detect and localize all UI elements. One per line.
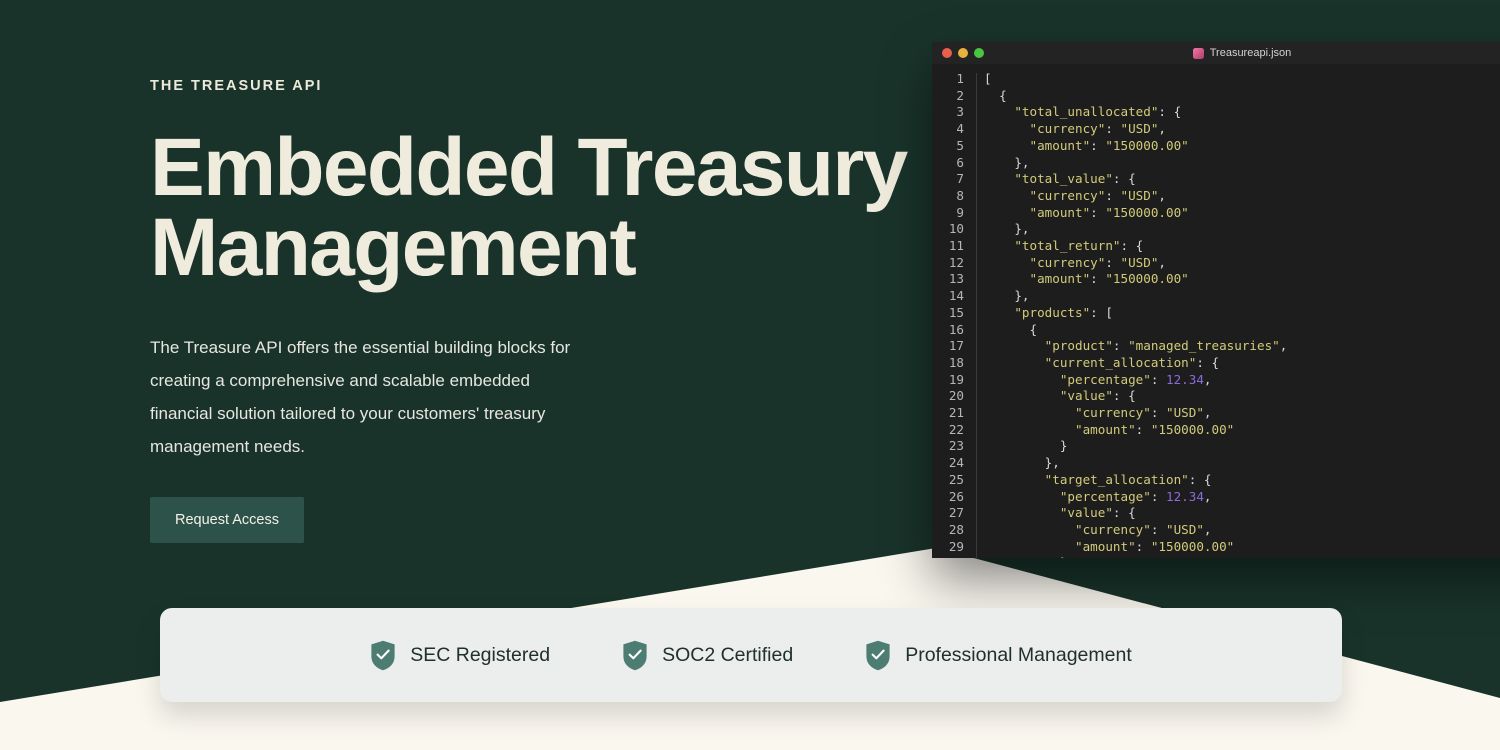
line-number: 18 — [932, 355, 964, 372]
code-line: "currency": "USD", — [984, 121, 1500, 138]
line-number: 13 — [932, 271, 964, 288]
code-line: "percentage": 12.34, — [984, 372, 1500, 389]
code-line: "value": { — [984, 388, 1500, 405]
code-line: }, — [984, 221, 1500, 238]
shield-check-icon — [622, 640, 648, 671]
trust-badge: Professional Management — [865, 640, 1132, 671]
line-number: 11 — [932, 238, 964, 255]
code-line: "amount": "150000.00" — [984, 205, 1500, 222]
code-line: "currency": "USD", — [984, 405, 1500, 422]
code-line: "amount": "150000.00" — [984, 138, 1500, 155]
line-number: 5 — [932, 138, 964, 155]
trust-badge-label: SEC Registered — [410, 644, 550, 667]
code-content[interactable]: [ { "total_unallocated": { "currency": "… — [972, 71, 1500, 558]
trust-badge-label: SOC2 Certified — [662, 644, 793, 667]
line-number: 27 — [932, 505, 964, 522]
code-line: "target_allocation": { — [984, 472, 1500, 489]
code-line: "currency": "USD", — [984, 522, 1500, 539]
headline-line-2: Management — [150, 202, 635, 293]
code-line: "amount": "150000.00" — [984, 422, 1500, 439]
line-number: 16 — [932, 322, 964, 339]
code-line: { — [984, 88, 1500, 105]
shield-check-icon — [370, 640, 396, 671]
line-number: 8 — [932, 188, 964, 205]
line-number: 10 — [932, 221, 964, 238]
code-window-title-group: Treasureapi.json — [932, 42, 1500, 64]
line-number: 24 — [932, 455, 964, 472]
code-line: "total_unallocated": { — [984, 104, 1500, 121]
line-number: 25 — [932, 472, 964, 489]
code-window-filename: Treasureapi.json — [1210, 47, 1292, 59]
line-number: 28 — [932, 522, 964, 539]
line-number: 23 — [932, 438, 964, 455]
line-number: 17 — [932, 338, 964, 355]
line-number: 3 — [932, 104, 964, 121]
hero-section: THE TREASURE API Embedded Treasury Manag… — [150, 78, 910, 543]
line-number: 29 — [932, 539, 964, 556]
line-number: 4 — [932, 121, 964, 138]
line-number: 9 — [932, 205, 964, 222]
line-number: 12 — [932, 255, 964, 272]
code-line: "value": { — [984, 505, 1500, 522]
line-number: 14 — [932, 288, 964, 305]
trust-badge: SEC Registered — [370, 640, 550, 671]
code-line: [ — [984, 71, 1500, 88]
line-number: 26 — [932, 489, 964, 506]
code-line: "total_value": { — [984, 171, 1500, 188]
line-number: 7 — [932, 171, 964, 188]
eyebrow-label: THE TREASURE API — [150, 78, 910, 94]
line-number-gutter: 1234567891011121314151617181920212223242… — [932, 71, 972, 558]
code-line: "percentage": 12.34, — [984, 489, 1500, 506]
line-number: 30 — [932, 555, 964, 558]
line-number: 20 — [932, 388, 964, 405]
code-line: }, — [984, 288, 1500, 305]
request-access-button[interactable]: Request Access — [150, 497, 304, 543]
code-line: "amount": "150000.00" — [984, 539, 1500, 556]
line-number: 19 — [932, 372, 964, 389]
headline-line-1: Embedded Treasury — [150, 122, 907, 213]
line-number: 2 — [932, 88, 964, 105]
line-number: 1 — [932, 71, 964, 88]
trust-badge-label: Professional Management — [905, 644, 1132, 667]
hero-description: The Treasure API offers the essential bu… — [150, 331, 580, 463]
line-number: 15 — [932, 305, 964, 322]
code-line: "currency": "USD", — [984, 188, 1500, 205]
code-window-titlebar: Treasureapi.json — [932, 42, 1500, 64]
code-line: "amount": "150000.00" — [984, 271, 1500, 288]
code-line: "products": [ — [984, 305, 1500, 322]
line-number: 21 — [932, 405, 964, 422]
code-line: "current_allocation": { — [984, 355, 1500, 372]
page-title: Embedded Treasury Management — [150, 128, 910, 287]
code-line: }, — [984, 455, 1500, 472]
code-line: "currency": "USD", — [984, 255, 1500, 272]
code-line: "total_return": { — [984, 238, 1500, 255]
code-line: } — [984, 438, 1500, 455]
code-body: 1234567891011121314151617181920212223242… — [932, 64, 1500, 558]
code-line: } — [984, 555, 1500, 558]
trust-badge-bar: SEC RegisteredSOC2 CertifiedProfessional… — [160, 608, 1342, 702]
json-file-icon — [1193, 48, 1204, 59]
code-line: "product": "managed_treasuries", — [984, 338, 1500, 355]
shield-check-icon — [865, 640, 891, 671]
code-line: { — [984, 322, 1500, 339]
code-line: }, — [984, 155, 1500, 172]
code-editor-window: Treasureapi.json 12345678910111213141516… — [932, 42, 1500, 558]
line-number: 6 — [932, 155, 964, 172]
line-number: 22 — [932, 422, 964, 439]
trust-badge: SOC2 Certified — [622, 640, 793, 671]
